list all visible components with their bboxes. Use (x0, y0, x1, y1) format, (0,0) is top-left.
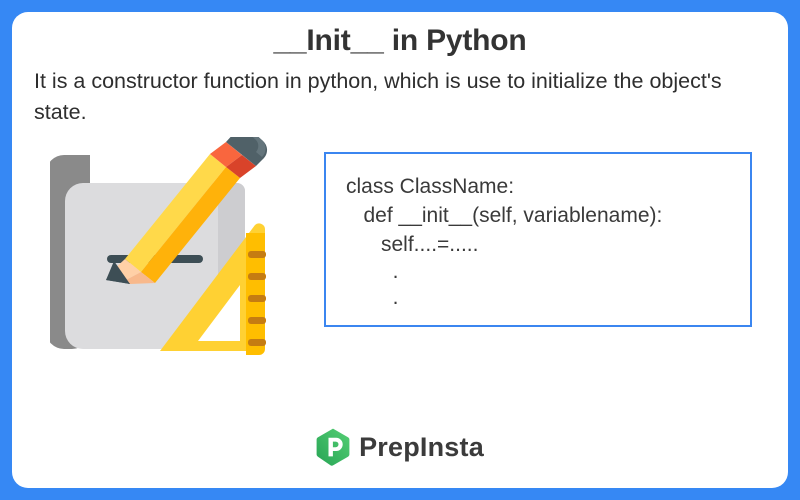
code-line: self....=..... (346, 230, 750, 259)
body-paragraph: It is a constructor function in python, … (34, 66, 779, 128)
brand-name: PrepInsta (359, 432, 484, 463)
brand-logo: PrepInsta (12, 428, 788, 466)
slide-frame: __Init__ in Python It is a constructor f… (0, 0, 800, 500)
blueprint-pencil-ruler-illustration (50, 137, 280, 357)
code-line: class ClassName: (346, 172, 750, 201)
slide-card: __Init__ in Python It is a constructor f… (12, 12, 788, 488)
code-line: def __init__(self, variablename): (346, 201, 750, 230)
page-title: __Init__ in Python (12, 24, 788, 58)
code-line: . (346, 285, 750, 311)
code-snippet-box: class ClassName: def __init__(self, vari… (324, 152, 752, 327)
prepinsta-hexagon-icon (316, 428, 350, 466)
code-line: . (346, 259, 750, 285)
